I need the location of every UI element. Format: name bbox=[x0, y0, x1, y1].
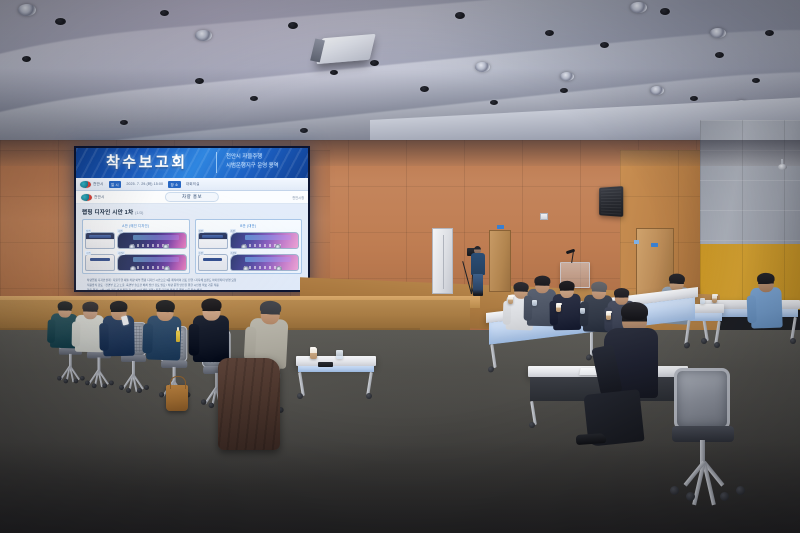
chair-foreground-right bbox=[668, 368, 744, 494]
vehicle-rear-view-a: 후면 bbox=[85, 252, 115, 271]
vehicle-side2-view-a: 측면2 bbox=[117, 252, 187, 271]
slide-banner-subtitle: 천안시 자율주행 시범운행지구 운영 용역 bbox=[226, 153, 279, 172]
table-caster bbox=[366, 393, 372, 399]
slide-header-row: 천안시 차량 홍보 천안시청 bbox=[76, 191, 308, 204]
banner-subtitle-line2: 시범운행지구 운영 용역 bbox=[226, 162, 279, 171]
design-panels: A안 (메인 디자인) 정면 측면 bbox=[82, 219, 302, 274]
chair-legs bbox=[86, 370, 111, 391]
slide-section-tab: 차량 홍보 bbox=[165, 192, 219, 202]
wheel-icon bbox=[275, 244, 281, 249]
design-panel-a: A안 (메인 디자인) 정면 측면 bbox=[82, 219, 190, 274]
banner-subtitle-line1: 천안시 자율주행 bbox=[226, 153, 279, 162]
attendee-left-5 bbox=[191, 298, 233, 362]
bus-rear-render-b bbox=[198, 254, 228, 271]
gooseneck-microphone-icon bbox=[566, 250, 580, 263]
slide-header-right: 천안시청 bbox=[292, 195, 304, 200]
person-hair bbox=[260, 300, 282, 315]
ceiling-air-diffuser-icon bbox=[18, 4, 36, 16]
ceiling-downlight-icon bbox=[250, 96, 258, 101]
table-caster bbox=[790, 338, 796, 344]
ceiling-downlight-icon bbox=[22, 56, 31, 62]
person-hair bbox=[757, 273, 775, 285]
ceiling-downlight-icon bbox=[420, 86, 429, 92]
date-text: 2025. 7. 29.(화) 15:00 bbox=[126, 182, 163, 187]
vehicle-grid-a: 정면 측면 후면 bbox=[85, 230, 187, 271]
table-caster bbox=[714, 342, 720, 348]
person-hair bbox=[201, 298, 221, 311]
ceiling-air-diffuser-icon bbox=[475, 62, 490, 72]
coffee-cup bbox=[712, 295, 717, 303]
person-arm bbox=[142, 323, 153, 353]
bus-side2-render-a bbox=[117, 254, 187, 271]
chair-legs bbox=[58, 366, 82, 386]
vehicle-rear-view-b: 후면 bbox=[198, 252, 228, 271]
view-label-front-a: 정면 bbox=[85, 229, 91, 233]
chair-foreground-caster bbox=[686, 492, 695, 501]
water-glass bbox=[532, 300, 537, 306]
panel-a-caption: A안 (메인 디자인) bbox=[85, 223, 187, 228]
person-arm bbox=[72, 321, 81, 346]
person-arm bbox=[99, 323, 109, 351]
projection-screen: 착수보고회 천안시 자율주행 시범운행지구 운영 용역 천안시 일 시 2025… bbox=[74, 146, 310, 292]
vehicle-side-view-a: 측면 bbox=[117, 230, 187, 249]
ceiling-downlight-icon bbox=[370, 60, 379, 66]
attendee-foreground-suit bbox=[600, 300, 660, 430]
chair-legs bbox=[120, 374, 146, 396]
person-hair bbox=[614, 288, 629, 298]
operator-torso bbox=[471, 253, 485, 275]
person-hair bbox=[534, 275, 550, 285]
ceiling-air-diffuser-icon bbox=[710, 28, 726, 38]
ceiling-downlight-icon bbox=[195, 78, 204, 84]
water-glass bbox=[700, 298, 705, 304]
ceiling-air-diffuser-icon bbox=[630, 2, 647, 13]
slide-content: 랩핑 디자인 시안 1차 (1/3) A안 (메인 디자인) 정면 측면 bbox=[76, 204, 308, 290]
vehicle-side-view-b: 측면 bbox=[230, 230, 300, 249]
slide-bullet: 향후 일정 : 1차 시안 검토 의견 취합 후 2차 시안 제작 진행 / 최… bbox=[87, 288, 302, 290]
view-label-side-b: 측면 bbox=[230, 229, 236, 233]
vehicle-side2-view-b: 측면2 bbox=[230, 252, 300, 271]
bus-side-render-a bbox=[117, 232, 187, 249]
slide-info-bar: 천안시 일 시 2025. 7. 29.(화) 15:00 장 소 대회의실 bbox=[76, 178, 308, 191]
ceiling-downlight-icon bbox=[120, 120, 128, 125]
person-hair bbox=[591, 281, 607, 292]
foreground-hair bbox=[621, 302, 648, 320]
coffee-cup bbox=[310, 348, 317, 359]
person-arm bbox=[524, 295, 533, 320]
table-caster bbox=[529, 422, 535, 428]
foreground-shoe bbox=[576, 433, 607, 445]
dome-camera-icon bbox=[778, 163, 787, 170]
ceiling-downlight-icon bbox=[455, 12, 465, 19]
slide-heading-sub: (1/3) bbox=[135, 211, 143, 215]
slide-banner: 착수보고회 천안시 자율주행 시범운행지구 운영 용역 bbox=[76, 148, 308, 178]
bus-side2-render-b bbox=[230, 254, 300, 271]
design-panel-b: B안 (대안) 정면 측면 bbox=[195, 219, 303, 274]
slide-heading: 랩핑 디자인 시안 1차 (1/3) bbox=[82, 208, 302, 216]
banner-divider bbox=[216, 152, 217, 173]
water-glass bbox=[336, 350, 343, 359]
table-skirt bbox=[298, 366, 374, 372]
chair-foreground-caster bbox=[720, 492, 729, 501]
wheel-icon bbox=[129, 244, 135, 249]
panel-b-caption: B안 (대안) bbox=[198, 223, 300, 228]
handbag bbox=[166, 385, 188, 411]
wheel-icon bbox=[130, 266, 136, 271]
ceiling-downlight-icon bbox=[55, 18, 66, 25]
chair-foreground-caster bbox=[670, 486, 679, 495]
vehicle-grid-b: 정면 측면 후면 bbox=[198, 230, 300, 271]
chair-foreground-caster bbox=[736, 486, 745, 495]
person-hair bbox=[156, 300, 175, 313]
bus-front-render-b bbox=[198, 232, 228, 249]
ceiling-downlight-icon bbox=[752, 78, 760, 83]
attendee-left-3 bbox=[101, 300, 139, 356]
wheel-icon bbox=[241, 244, 247, 249]
view-label-rear-b: 후면 bbox=[198, 251, 204, 255]
person-arm bbox=[747, 295, 757, 323]
attendee-right-far bbox=[748, 272, 787, 328]
vehicle-front-view-a: 정면 bbox=[85, 230, 115, 249]
ceiling-downlight-icon bbox=[715, 52, 724, 58]
city-logo: 천안시 bbox=[80, 181, 104, 188]
notebook bbox=[318, 362, 333, 367]
place-text: 대회의실 bbox=[186, 182, 200, 187]
view-label-side2-a: 측면2 bbox=[117, 251, 125, 255]
table-left-end bbox=[296, 356, 376, 398]
camera-operator bbox=[470, 246, 486, 296]
person-arm bbox=[47, 319, 56, 343]
coffee-cup bbox=[556, 304, 561, 312]
date-pill-label: 일 시 bbox=[109, 181, 122, 188]
person-hair bbox=[58, 301, 73, 311]
ceiling-air-diffuser-icon bbox=[650, 86, 664, 95]
drink-bottle bbox=[176, 330, 180, 342]
bus-front-render-a bbox=[85, 232, 115, 249]
wheel-icon bbox=[243, 266, 249, 271]
ceiling-projector bbox=[316, 34, 375, 64]
city-logo-label: 천안시 bbox=[93, 182, 104, 187]
table-leg bbox=[684, 320, 690, 344]
ceiling-downlight-icon bbox=[490, 100, 498, 105]
ceiling-downlight-icon bbox=[300, 128, 308, 133]
attendee-left-4 bbox=[144, 299, 186, 360]
place-pill-label: 장 소 bbox=[168, 181, 181, 188]
person-hair bbox=[669, 273, 685, 284]
vehicle-front-view-b: 정면 bbox=[198, 230, 228, 249]
ceiling-downlight-icon bbox=[288, 22, 298, 29]
ceiling-air-diffuser-icon bbox=[195, 30, 212, 41]
person-hair bbox=[559, 281, 575, 291]
ceiling-downlight-icon bbox=[160, 10, 169, 16]
bus-side-render-b bbox=[230, 232, 300, 249]
door-sign-icon bbox=[651, 243, 658, 247]
coffee-cup bbox=[508, 296, 513, 304]
view-label-side-a: 측면 bbox=[117, 229, 123, 233]
storage-cabinet bbox=[432, 228, 453, 294]
view-label-front-b: 정면 bbox=[198, 229, 204, 233]
person-arm bbox=[189, 324, 200, 356]
wall-signage-icon bbox=[634, 240, 639, 244]
view-label-side2-b: 측면2 bbox=[230, 251, 238, 255]
person-arm bbox=[244, 326, 257, 360]
slide-banner-title: 착수보고회 bbox=[106, 151, 188, 172]
slide-heading-text: 랩핑 디자인 시안 1차 bbox=[82, 210, 133, 216]
city-logo-mark-icon bbox=[80, 181, 91, 188]
slide-bullet-list: 차량랩핑 디자인설계 : 자율주행 셔틀 차량 외부 랩핑 디자인 시안으로 3… bbox=[82, 278, 302, 290]
person-arm bbox=[503, 301, 512, 325]
ceiling-downlight-icon bbox=[545, 30, 554, 36]
header-logo-mark-icon bbox=[81, 194, 92, 201]
person-hair bbox=[110, 301, 128, 312]
ceiling-downlight-icon bbox=[660, 8, 670, 15]
ceiling-downlight-icon bbox=[600, 42, 609, 48]
wall-speaker bbox=[599, 186, 623, 217]
conference-hall-scene: 착수보고회 천안시 자율주행 시범운행지구 운영 용역 천안시 일 시 2025… bbox=[0, 0, 800, 533]
operator-legs bbox=[473, 274, 483, 296]
ceiling-downlight-icon bbox=[330, 70, 338, 75]
wheel-icon bbox=[276, 266, 282, 271]
presentation-slide: 착수보고회 천안시 자율주행 시범운행지구 운영 용역 천안시 일 시 2025… bbox=[76, 148, 308, 290]
header-logo-label: 천안시 bbox=[94, 195, 105, 200]
water-glass bbox=[580, 308, 585, 314]
slide-header-logo: 천안시 bbox=[81, 194, 105, 201]
door-sign-icon bbox=[497, 225, 504, 229]
wheel-icon bbox=[164, 266, 170, 271]
table-caster bbox=[297, 393, 303, 399]
bus-rear-render-a bbox=[85, 254, 115, 271]
ceiling-downlight-icon bbox=[765, 30, 774, 36]
ceiling-air-diffuser-icon bbox=[560, 72, 574, 81]
wall-control-panel[interactable] bbox=[540, 213, 548, 220]
person-hair bbox=[82, 301, 98, 311]
ceiling-downlight-icon bbox=[690, 96, 698, 101]
table-leg bbox=[490, 344, 496, 368]
ceiling-downlight-icon bbox=[560, 88, 568, 93]
chair-foreground-back bbox=[674, 368, 730, 430]
view-label-rear-a: 후면 bbox=[85, 251, 91, 255]
draped-coat bbox=[218, 358, 280, 450]
wheel-icon bbox=[163, 244, 169, 249]
